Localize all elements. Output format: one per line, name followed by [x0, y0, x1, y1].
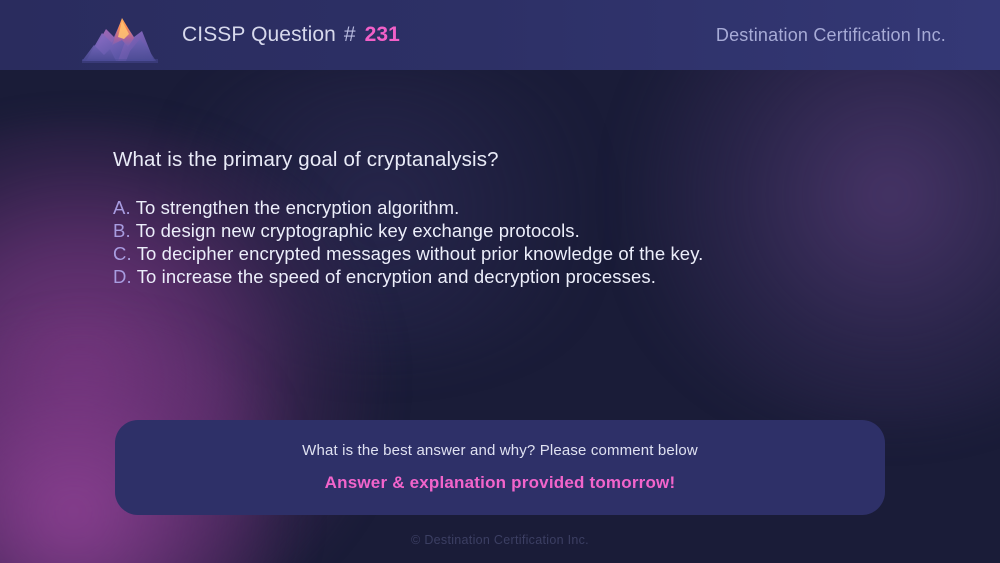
option-b-letter: B.	[113, 220, 131, 241]
cta-card: What is the best answer and why? Please …	[115, 420, 885, 515]
question-number: 231	[365, 23, 400, 46]
cta-highlight-text: Answer & explanation provided tomorrow!	[325, 473, 676, 493]
question-content: What is the primary goal of cryptanalysi…	[113, 148, 933, 289]
option-d-letter: D.	[113, 266, 132, 287]
slide-root: CISSP Question # 231 Destination Certifi…	[0, 0, 1000, 563]
option-b-text: To design new cryptographic key exchange…	[136, 220, 580, 241]
header-bar: CISSP Question # 231 Destination Certifi…	[0, 0, 1000, 70]
option-d-text: To increase the speed of encryption and …	[137, 266, 656, 287]
option-c[interactable]: C.To decipher encrypted messages without…	[113, 242, 933, 265]
hash-symbol: #	[344, 23, 356, 46]
option-c-text: To decipher encrypted messages without p…	[137, 243, 704, 264]
option-a-text: To strengthen the encryption algorithm.	[136, 197, 460, 218]
option-b[interactable]: B.To design new cryptographic key exchan…	[113, 219, 933, 242]
answer-options-list: A.To strengthen the encryption algorithm…	[113, 196, 933, 289]
option-d[interactable]: D.To increase the speed of encryption an…	[113, 265, 933, 288]
brand-name: Destination Certification Inc.	[716, 25, 946, 46]
footer-copyright: © Destination Certification Inc.	[0, 533, 1000, 547]
option-a[interactable]: A.To strengthen the encryption algorithm…	[113, 196, 933, 219]
question-text: What is the primary goal of cryptanalysi…	[113, 148, 933, 173]
title-prefix: CISSP Question	[182, 23, 336, 46]
cta-prompt-text: What is the best answer and why? Please …	[302, 442, 698, 459]
option-c-letter: C.	[113, 243, 132, 264]
mountain-logo-icon	[82, 7, 158, 63]
page-title: CISSP Question # 231	[182, 23, 400, 47]
option-a-letter: A.	[113, 197, 131, 218]
